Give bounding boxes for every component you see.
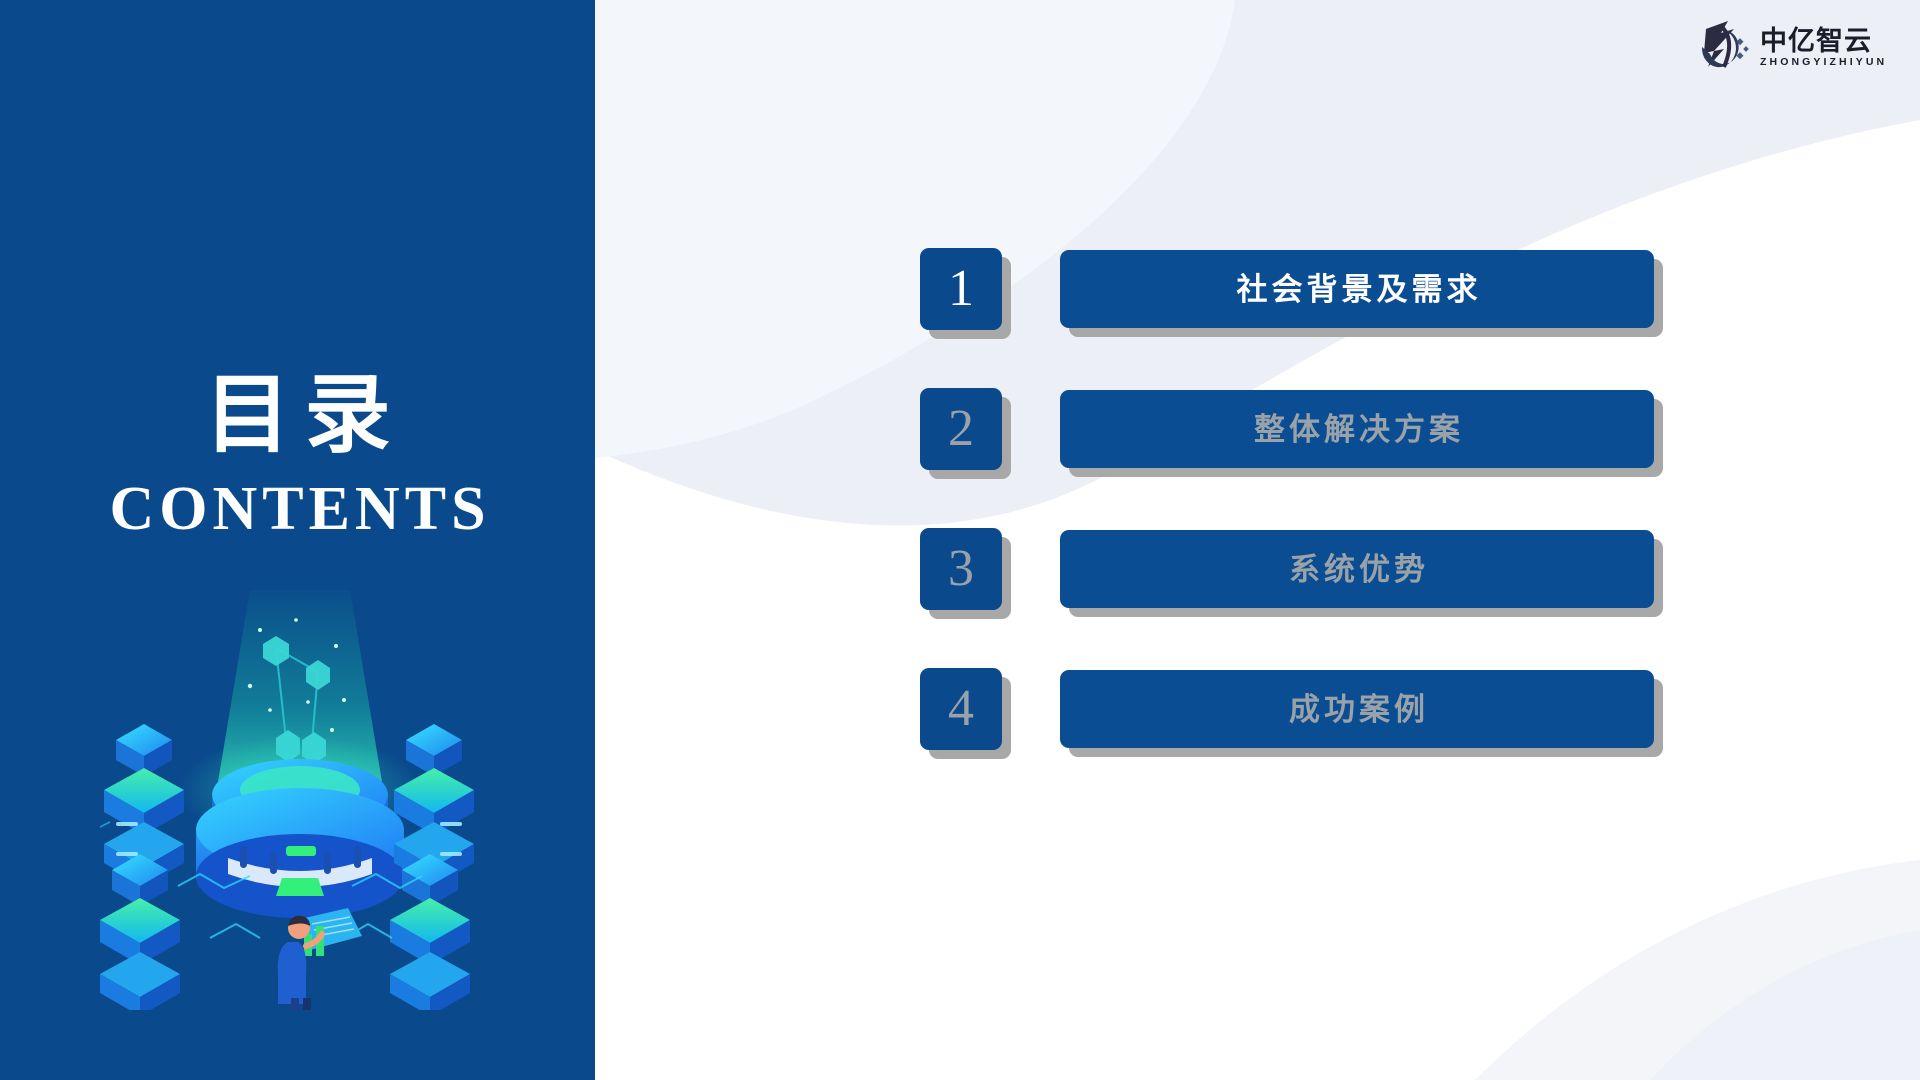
contents-menu: 1 社会背景及需求 2 整体解决方案 3 系统优势 4: [920, 248, 1654, 750]
contents-item-3-number-box[interactable]: 3: [920, 528, 1002, 610]
logo-name-cn: 中亿智云: [1760, 27, 1887, 55]
person-figure: [278, 908, 362, 1010]
contents-item-2-pill[interactable]: 整体解决方案: [1060, 390, 1654, 468]
contents-item-4-number: 4: [948, 683, 974, 735]
contents-item-2-number: 2: [948, 403, 974, 455]
logo-name-en: ZHONGYIZHIYUN: [1760, 57, 1887, 69]
contents-item-1-pill[interactable]: 社会背景及需求: [1060, 250, 1654, 328]
contents-item-2[interactable]: 2 整体解决方案: [920, 388, 1654, 470]
contents-item-1[interactable]: 1 社会背景及需求: [920, 248, 1654, 330]
brand-logo: 中亿智云 ZHONGYIZHIYUN: [1694, 12, 1890, 84]
contents-item-2-label: 整体解决方案: [1250, 414, 1464, 445]
contents-item-4-pill[interactable]: 成功案例: [1060, 670, 1654, 748]
contents-item-3[interactable]: 3 系统优势: [920, 528, 1654, 610]
sidebar-panel: 目录 CONTENTS: [0, 0, 595, 1080]
contents-item-4-number-box[interactable]: 4: [920, 668, 1002, 750]
contents-item-1-number: 1: [948, 263, 974, 315]
presentation-slide: 目录 CONTENTS: [0, 0, 1920, 1080]
contents-item-2-number-box[interactable]: 2: [920, 388, 1002, 470]
contents-item-3-label: 系统优势: [1285, 554, 1429, 585]
contents-item-3-pill[interactable]: 系统优势: [1060, 530, 1654, 608]
contents-item-4[interactable]: 4 成功案例: [920, 668, 1654, 750]
contents-item-1-label: 社会背景及需求: [1233, 274, 1482, 305]
contents-item-4-label: 成功案例: [1285, 694, 1429, 725]
sidebar-subtitle: CONTENTS: [0, 478, 595, 540]
sidebar-title: 目录: [0, 372, 595, 458]
lightning-swoosh-logo-mark: [1694, 17, 1756, 79]
contents-item-1-number-box[interactable]: 1: [920, 248, 1002, 330]
contents-item-3-number: 3: [948, 543, 974, 595]
isometric-data-platform-illustration: [100, 590, 500, 1010]
